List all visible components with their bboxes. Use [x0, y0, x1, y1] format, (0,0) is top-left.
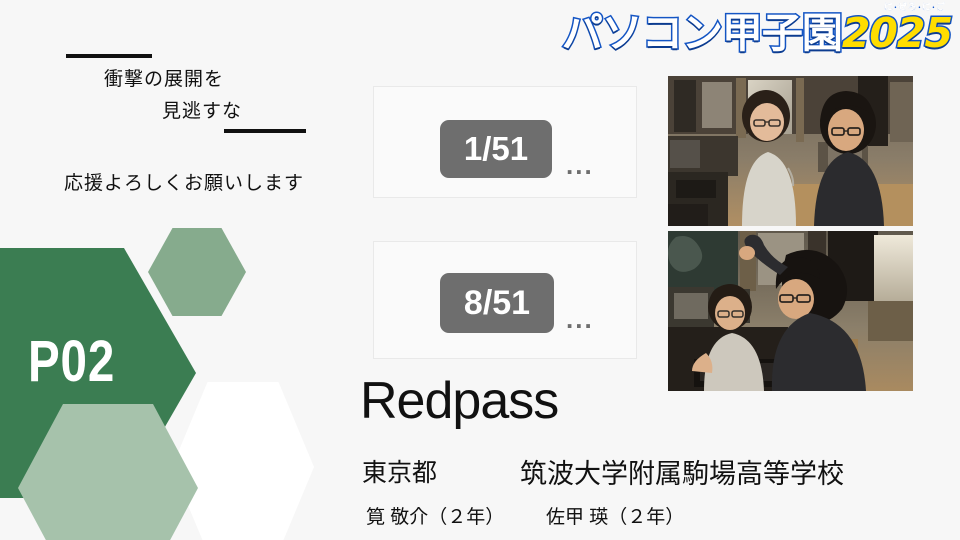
hexagon-decor-white [172, 382, 314, 540]
headline-rule-bottom [224, 129, 306, 133]
support-message: 応援よろしくお願いします [64, 168, 304, 195]
team-photo-top [668, 76, 913, 226]
team-number-label: P02 [28, 333, 115, 391]
hexagon-decor-top [148, 228, 246, 316]
logo-year-text: 2025 [842, 9, 952, 57]
ellipsis-first: ... [566, 152, 594, 178]
headline-line-1: 衝撃の展開を [104, 64, 224, 91]
presentation-slide: に・ぜろ・に・ご パソコン甲子園2025 衝撃の展開を 見逃すな 応援よろしくお… [0, 0, 960, 540]
team-photo-bottom-graphic [668, 231, 913, 391]
logo-main: パソコン甲子園2025 [562, 13, 952, 54]
team-name: Redpass [360, 373, 558, 430]
score-badge-second: 8/51 [440, 273, 554, 333]
headline-line-2: 見逃すな [162, 96, 242, 123]
logo-title-text: パソコン甲子園 [562, 9, 842, 57]
headline-rule-top [66, 54, 152, 58]
score-badge-first: 1/51 [440, 120, 552, 178]
team-school: 筑波大学附属駒場高等学校 [520, 452, 844, 491]
team-member-1: 筧 敬介（２年） [366, 502, 504, 529]
team-prefecture: 東京都 [362, 453, 437, 489]
pasocon-koshien-logo: に・ぜろ・に・ご パソコン甲子園2025 [684, 2, 952, 64]
team-photo-top-graphic [668, 76, 913, 226]
team-member-2: 佐甲 瑛（２年） [546, 502, 684, 529]
ellipsis-second: ... [566, 306, 594, 332]
team-photo-bottom [668, 231, 913, 391]
